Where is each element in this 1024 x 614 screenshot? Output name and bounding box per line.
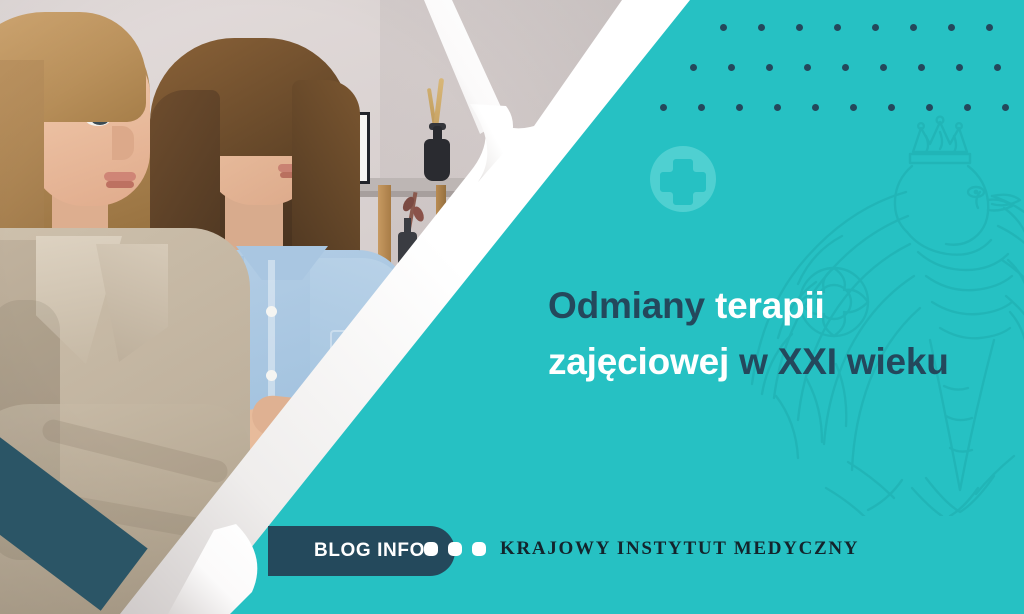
organization-name: KRAJOWY INSTYTUT MEDYCZNY	[500, 538, 859, 560]
dot-grid-decoration	[660, 24, 1024, 134]
grid-dot	[926, 104, 933, 111]
page-title: Odmiany terapii zajęciowej w XXI wieku	[548, 278, 1008, 390]
grid-dot	[728, 64, 735, 71]
grid-dot	[834, 24, 841, 31]
footer-dot	[472, 542, 486, 556]
grid-dot	[796, 24, 803, 31]
grid-dot	[812, 104, 819, 111]
grid-dot	[880, 64, 887, 71]
title-words-w-xxi-wieku: w XXI wieku	[729, 341, 949, 382]
grid-dot	[736, 104, 743, 111]
footer-dot	[424, 542, 438, 556]
footer-dot	[448, 542, 462, 556]
grid-dot	[910, 24, 917, 31]
grid-dot	[964, 104, 971, 111]
title-word-odmiany: Odmiany	[548, 285, 715, 326]
blog-info-banner: Odmiany terapii zajęciowej w XXI wieku B…	[0, 0, 1024, 614]
grid-dot	[918, 64, 925, 71]
grid-dot	[804, 64, 811, 71]
grid-dot	[948, 24, 955, 31]
grid-dot	[994, 64, 1001, 71]
grid-dot	[758, 24, 765, 31]
blog-info-badge-label: BLOG INFO	[314, 540, 425, 562]
grid-dot	[766, 64, 773, 71]
grid-dot	[660, 104, 667, 111]
title-word-zajeciowej: zajęciowej	[548, 341, 729, 382]
grid-dot	[888, 104, 895, 111]
grid-dot	[986, 24, 993, 31]
title-line-2: zajęciowej w XXI wieku	[548, 334, 1008, 390]
grid-dot	[690, 64, 697, 71]
grid-dot	[774, 104, 781, 111]
grid-dot	[872, 24, 879, 31]
grid-dot	[956, 64, 963, 71]
grid-dot	[698, 104, 705, 111]
title-word-terapii: terapii	[715, 285, 825, 326]
grid-dot	[720, 24, 727, 31]
title-line-1: Odmiany terapii	[548, 278, 1008, 334]
grid-dot	[850, 104, 857, 111]
medical-cross-icon	[650, 146, 716, 212]
grid-dot	[842, 64, 849, 71]
footer-dots-decoration	[424, 542, 486, 556]
grid-dot	[1002, 104, 1009, 111]
